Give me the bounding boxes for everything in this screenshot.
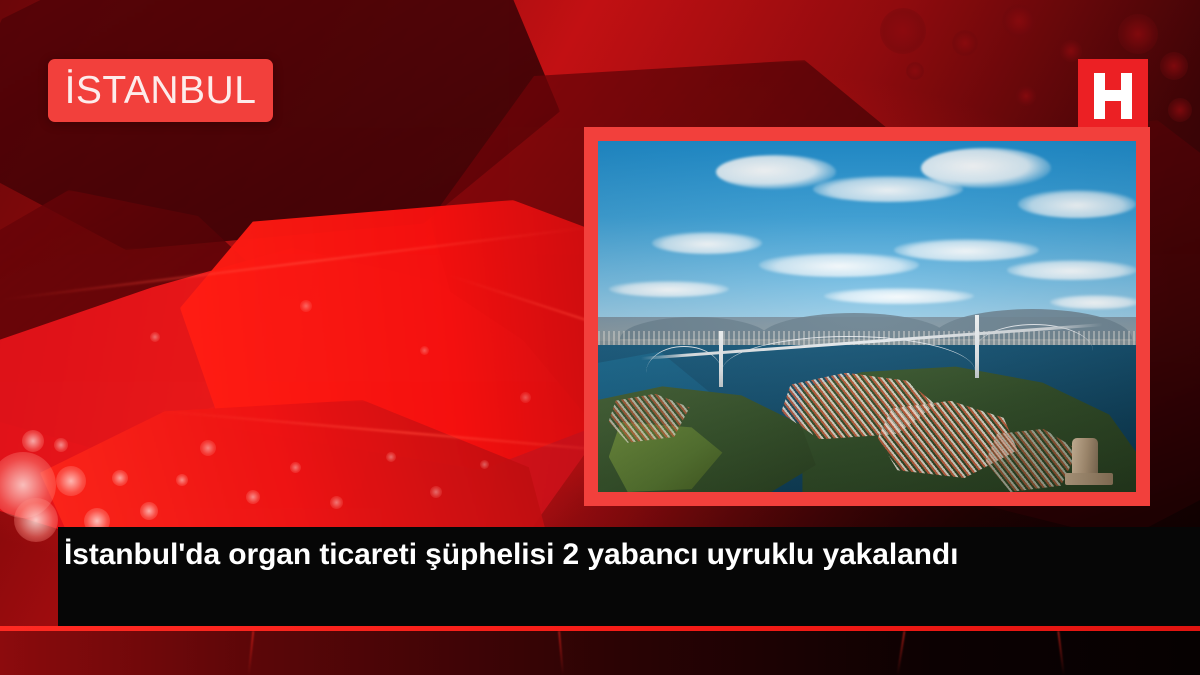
background-vein <box>248 631 255 675</box>
article-photo <box>598 141 1136 492</box>
bottom-background-band <box>0 631 1200 675</box>
city-badge-label: İSTANBUL <box>65 71 257 110</box>
haberler-logo[interactable] <box>1078 59 1148 132</box>
background-vein <box>558 631 564 675</box>
city-badge: İSTANBUL <box>48 59 273 122</box>
article-photo-frame <box>584 127 1150 506</box>
background-vein <box>897 631 906 675</box>
letter-h-icon <box>1092 71 1134 121</box>
photo-tone-overlay <box>598 141 1136 492</box>
news-card: İSTANBUL <box>0 0 1200 675</box>
headline-panel: İstanbul'da organ ticareti şüphelisi 2 y… <box>58 527 1200 626</box>
background-vein <box>1057 631 1064 675</box>
headline-text: İstanbul'da organ ticareti şüphelisi 2 y… <box>64 536 1074 574</box>
